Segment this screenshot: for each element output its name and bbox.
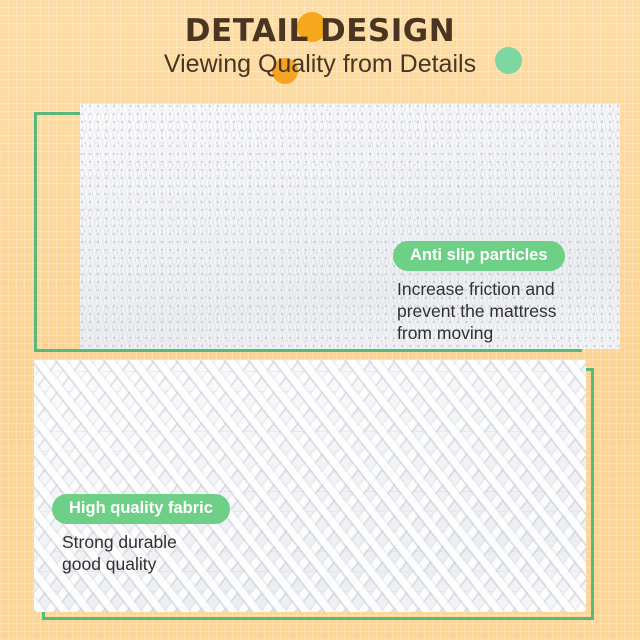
anti-slip-particles-description: Increase friction and prevent the mattre…	[397, 278, 565, 345]
status-badge: High quality fabric	[52, 494, 230, 524]
status-badge: Anti slip particles	[393, 241, 565, 271]
page-title: DETAIL DESIGN	[0, 13, 640, 49]
anti-slip-particles-callout: Anti slip particles Increase friction an…	[393, 241, 565, 345]
high-quality-fabric-callout: High quality fabric Strong durable good …	[52, 494, 230, 575]
high-quality-fabric-description: Strong durable good quality	[62, 531, 230, 575]
page-subtitle: Viewing Quality from Details	[0, 50, 640, 79]
header: DETAIL DESIGN Viewing Quality from Detai…	[0, 0, 640, 96]
promo-graphic-stage: DETAIL DESIGN Viewing Quality from Detai…	[0, 0, 640, 640]
